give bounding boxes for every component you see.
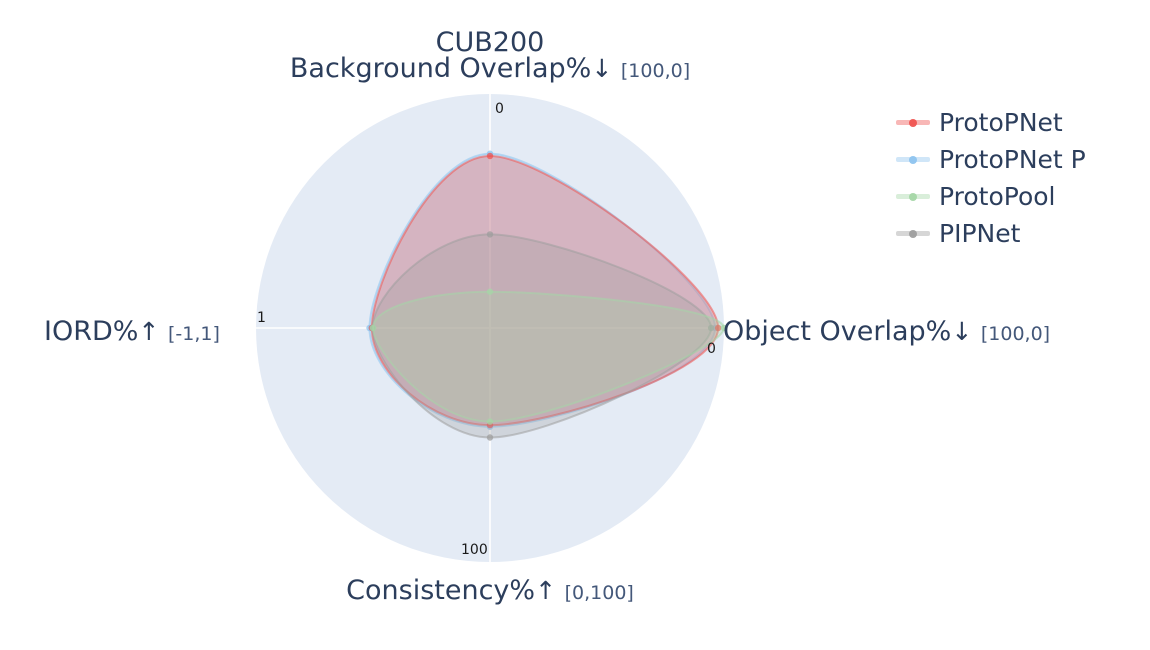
axis-arrow-object-overlap: ↓ bbox=[951, 317, 972, 346]
tick-label-object-overlap: 0 bbox=[707, 341, 716, 357]
axis-label-consistency: Consistency%↑ [0,100] bbox=[0, 577, 980, 605]
axis-label-background-overlap: Background Overlap%↓ [100,0] bbox=[0, 55, 980, 83]
axis-arrow-background-overlap: ↓ bbox=[591, 54, 612, 83]
legend-dot-3 bbox=[909, 230, 917, 238]
legend-swatch-icon bbox=[896, 115, 930, 129]
tick-label-consistency: 100 bbox=[461, 542, 488, 558]
axis-range-background-overlap: [100,0] bbox=[621, 60, 690, 82]
legend-label-pipnet: PIPNet bbox=[939, 219, 1020, 248]
legend-item-pipnet[interactable]: PIPNet bbox=[896, 219, 1086, 247]
chart-legend: ProtoPNet ProtoPNet P ProtoPool PIPNet bbox=[896, 108, 1086, 247]
axis-label-object-overlap: Object Overlap%↓ [100,0] bbox=[723, 318, 1050, 346]
radar-chart-figure: CUB200 Background Overlap%↓ [100,0] Obje… bbox=[0, 0, 1150, 650]
axis-label-background-overlap-text: Background Overlap% bbox=[290, 53, 591, 84]
axis-arrow-consistency: ↑ bbox=[535, 576, 556, 605]
series-point-0 bbox=[487, 153, 493, 159]
axis-range-iord: [-1,1] bbox=[168, 323, 220, 345]
series-point-2 bbox=[487, 418, 493, 424]
axis-label-iord: IORD%↑ [-1,1] bbox=[44, 318, 220, 346]
legend-dot-0 bbox=[909, 119, 917, 127]
legend-label-protopnet-p: ProtoPNet P bbox=[939, 145, 1086, 174]
axis-range-consistency: [0,100] bbox=[565, 582, 634, 604]
tick-label-background-overlap: 0 bbox=[495, 101, 504, 117]
legend-label-protopool: ProtoPool bbox=[939, 182, 1055, 211]
legend-item-protopnet[interactable]: ProtoPNet bbox=[896, 108, 1086, 136]
legend-swatch-icon bbox=[896, 189, 930, 203]
legend-item-protopnet-p[interactable]: ProtoPNet P bbox=[896, 145, 1086, 173]
legend-dot-1 bbox=[909, 156, 917, 164]
legend-swatch-icon bbox=[896, 152, 930, 166]
axis-range-object-overlap: [100,0] bbox=[981, 323, 1050, 345]
legend-label-protopnet: ProtoPNet bbox=[939, 108, 1063, 137]
tick-label-iord: 1 bbox=[257, 310, 266, 326]
legend-item-protopool[interactable]: ProtoPool bbox=[896, 182, 1086, 210]
series-point-0 bbox=[487, 231, 493, 237]
axis-label-consistency-text: Consistency% bbox=[346, 575, 535, 606]
series-point-0 bbox=[487, 289, 493, 295]
axis-label-object-overlap-text: Object Overlap% bbox=[723, 316, 951, 347]
legend-dot-2 bbox=[909, 193, 917, 201]
axis-arrow-iord: ↑ bbox=[138, 317, 159, 346]
series-point-2 bbox=[487, 434, 493, 440]
axis-label-iord-text: IORD% bbox=[44, 316, 138, 347]
legend-swatch-icon bbox=[896, 226, 930, 240]
series-point-3 bbox=[370, 325, 376, 331]
